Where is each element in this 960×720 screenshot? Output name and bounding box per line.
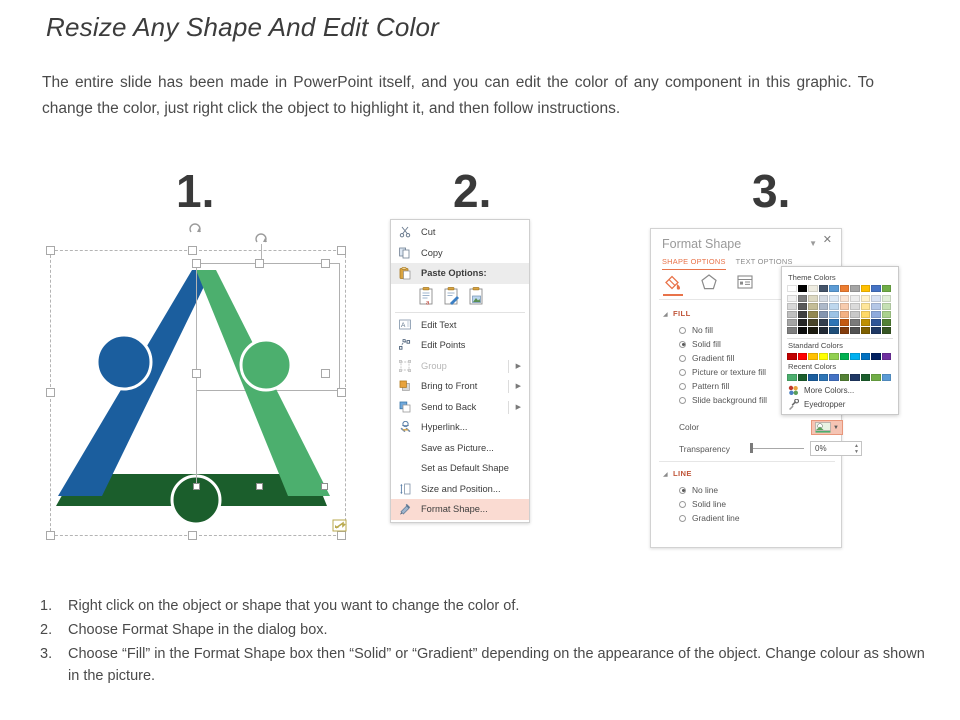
theme-color-column[interactable] — [871, 285, 881, 334]
bring-to-front-icon — [395, 378, 415, 394]
hyperlink-icon — [395, 419, 415, 435]
color-swatch[interactable] — [871, 295, 881, 302]
radio-indicator — [679, 383, 686, 390]
edit-text-icon: A — [395, 317, 415, 333]
color-swatch[interactable] — [840, 353, 850, 360]
menu-item-edit-text[interactable]: A Edit Text — [391, 315, 529, 336]
more-colors-icon — [788, 385, 799, 396]
paste-options-row[interactable]: a — [391, 284, 529, 310]
transparency-slider-thumb[interactable] — [750, 443, 753, 453]
color-swatch[interactable] — [798, 285, 808, 292]
color-swatch[interactable] — [850, 295, 860, 302]
active-option-underline — [663, 294, 683, 296]
color-swatch[interactable] — [808, 374, 818, 381]
radio-indicator — [679, 355, 686, 362]
menu-item-label: Bring to Front — [415, 381, 477, 391]
color-swatch[interactable] — [829, 285, 839, 292]
transparency-slider-track[interactable] — [752, 448, 804, 449]
none-icon — [395, 440, 415, 456]
transparency-value: 0% — [815, 444, 827, 453]
color-swatch[interactable] — [829, 353, 839, 360]
color-swatch[interactable] — [882, 374, 892, 381]
standard-colors-heading: Standard Colors — [788, 341, 893, 350]
color-swatch[interactable] — [840, 327, 850, 334]
send-to-back-icon — [395, 399, 415, 415]
resize-handle-ne[interactable] — [337, 246, 346, 255]
radio-label: Slide background fill — [692, 395, 767, 405]
radio-indicator — [679, 397, 686, 404]
menu-item-label: Save as Picture... — [415, 443, 494, 453]
menu-item-send-to-back[interactable]: Send to Back ▶ — [391, 397, 529, 418]
color-swatch[interactable] — [819, 311, 829, 318]
color-swatch[interactable] — [798, 374, 808, 381]
color-swatch[interactable] — [850, 311, 860, 318]
menu-item-size-and-position[interactable]: Size and Position... — [391, 479, 529, 500]
color-swatch[interactable] — [861, 295, 871, 302]
theme-colors-heading: Theme Colors — [788, 273, 893, 282]
radio-label: No fill — [692, 325, 713, 335]
group-icon — [395, 358, 415, 374]
menu-item-copy[interactable]: Copy — [391, 243, 529, 264]
radio-indicator — [679, 327, 686, 334]
menu-item-label: Hyperlink... — [415, 422, 468, 432]
theme-color-column[interactable] — [808, 285, 818, 334]
color-swatch[interactable] — [798, 311, 808, 318]
triangle-graphic[interactable] — [44, 226, 354, 544]
blue-circle-shape — [97, 335, 151, 389]
transparency-label: Transparency — [679, 444, 730, 454]
color-swatch[interactable] — [787, 374, 797, 381]
color-swatch[interactable] — [840, 303, 850, 310]
color-swatch[interactable] — [798, 327, 808, 334]
menu-item-label: Set as Default Shape — [415, 463, 509, 473]
theme-color-column[interactable] — [840, 285, 850, 334]
rotate-handle-icon-left[interactable] — [188, 222, 204, 238]
instruction-number: 2. — [40, 619, 68, 641]
dialog-option-icons[interactable] — [663, 273, 755, 291]
color-swatch[interactable] — [819, 295, 829, 302]
radio-no-fill[interactable]: No fill — [679, 325, 713, 335]
color-swatch[interactable] — [787, 327, 797, 334]
radio-label: Solid line — [692, 499, 726, 509]
color-swatch[interactable] — [829, 319, 839, 326]
color-swatch[interactable] — [787, 319, 797, 326]
menu-item-label: Edit Text — [415, 320, 457, 330]
color-swatch[interactable] — [850, 374, 860, 381]
menu-item-label: Edit Points — [415, 340, 465, 350]
color-swatch[interactable] — [808, 319, 818, 326]
chevron-right-icon: ▶ — [516, 403, 521, 411]
color-swatch[interactable] — [787, 295, 797, 302]
color-row: Color ▼ — [679, 419, 839, 435]
none-icon — [395, 460, 415, 476]
color-swatch[interactable] — [808, 353, 818, 360]
color-swatch[interactable] — [871, 319, 881, 326]
menu-item-bring-to-front[interactable]: Bring to Front ▶ — [391, 376, 529, 397]
inner-resize-handle-se[interactable] — [321, 483, 328, 490]
recent-colors-row[interactable] — [787, 374, 893, 381]
instruction-number: 1. — [40, 595, 68, 617]
more-colors-button[interactable]: More Colors... — [787, 383, 893, 397]
transparency-row: Transparency 0% ▲▼ — [679, 441, 839, 457]
inner-resize-handle-e[interactable] — [321, 369, 330, 378]
inner-resize-handle-n[interactable] — [255, 259, 264, 268]
menu-item-cut[interactable]: Cut — [391, 222, 529, 243]
copy-icon — [395, 245, 415, 261]
menu-separator — [395, 312, 525, 313]
page-title: Resize Any Shape And Edit Color — [46, 12, 439, 43]
color-swatch[interactable] — [798, 303, 808, 310]
color-swatch[interactable] — [861, 285, 871, 292]
radio-solid-fill[interactable]: Solid fill — [679, 339, 721, 349]
paste-keep-source-formatting-icon[interactable]: a — [418, 287, 436, 306]
theme-color-column[interactable] — [882, 285, 892, 334]
color-swatch[interactable] — [871, 353, 881, 360]
instruction-text: Choose Format Shape in the dialog box. — [68, 619, 940, 641]
radio-gradient-line[interactable]: Gradient line — [679, 513, 740, 523]
color-swatch[interactable] — [808, 311, 818, 318]
svg-text:A: A — [401, 322, 406, 329]
color-swatch[interactable] — [871, 285, 881, 292]
eyedropper-button[interactable]: Eyedropper — [787, 397, 893, 411]
eyedropper-label: Eyedropper — [804, 400, 845, 409]
resize-handle-s[interactable] — [188, 531, 197, 540]
color-swatch[interactable] — [871, 303, 881, 310]
radio-no-line[interactable]: No line — [679, 485, 718, 495]
color-swatch[interactable] — [840, 311, 850, 318]
dialog-title: Format Shape — [662, 237, 741, 251]
theme-color-column[interactable] — [819, 285, 829, 334]
menu-item-label: Copy — [415, 248, 443, 258]
eyedropper-icon — [788, 399, 799, 410]
context-menu[interactable]: Cut Copy Paste Options: a — [390, 219, 530, 523]
theme-colors-grid[interactable] — [787, 285, 893, 334]
radio-label: Gradient line — [692, 513, 740, 523]
shape-selection-panel — [44, 226, 354, 544]
menu-item-set-as-default-shape[interactable]: Set as Default Shape — [391, 458, 529, 479]
theme-color-column[interactable] — [850, 285, 860, 334]
color-swatch[interactable] — [861, 311, 871, 318]
color-swatch[interactable] — [882, 327, 892, 334]
instruction-number: 3. — [40, 643, 68, 687]
line-section-divider — [659, 461, 835, 462]
color-swatch[interactable] — [882, 311, 892, 318]
color-swatch[interactable] — [840, 319, 850, 326]
radio-slide-background-fill[interactable]: Slide background fill — [679, 395, 767, 405]
color-swatch[interactable] — [829, 311, 839, 318]
paste-picture-icon[interactable] — [468, 287, 486, 306]
color-swatch[interactable] — [808, 327, 818, 334]
menu-item-label: Cut — [415, 227, 435, 237]
color-swatch[interactable] — [819, 319, 829, 326]
resize-handle-nw[interactable] — [46, 246, 55, 255]
palette-divider — [787, 338, 893, 339]
line-section-triangle-icon[interactable]: ◢ — [663, 471, 668, 478]
color-swatch[interactable] — [787, 311, 797, 318]
color-swatch[interactable] — [882, 285, 892, 292]
inner-resize-handle-sw[interactable] — [193, 483, 200, 490]
color-swatch[interactable] — [850, 285, 860, 292]
radio-picture-or-texture-fill[interactable]: Picture or texture fill — [679, 367, 766, 377]
edit-points-icon — [395, 337, 415, 353]
fill-color-button[interactable]: ▼ — [811, 420, 843, 435]
color-swatch[interactable] — [882, 295, 892, 302]
color-swatch[interactable] — [798, 353, 808, 360]
radio-indicator — [679, 369, 686, 376]
menu-item-label: Format Shape... — [415, 504, 488, 514]
color-swatch[interactable] — [861, 327, 871, 334]
size-position-icon — [395, 481, 415, 497]
chevron-down-icon[interactable]: ▼ — [833, 425, 839, 431]
paste-use-destination-theme-icon[interactable] — [443, 287, 461, 306]
color-swatch[interactable] — [787, 303, 797, 310]
color-swatch[interactable] — [861, 303, 871, 310]
color-swatch[interactable] — [808, 285, 818, 292]
inner-resize-handle-w[interactable] — [192, 369, 201, 378]
rotate-handle-icon-right[interactable] — [254, 232, 270, 248]
chevron-right-icon: ▶ — [516, 362, 521, 370]
color-label: Color — [679, 422, 699, 432]
standard-colors-row[interactable] — [787, 353, 893, 360]
resize-cursor-icon — [332, 518, 350, 534]
color-swatch[interactable] — [798, 319, 808, 326]
menu-item-group: Group ▶ — [391, 356, 529, 377]
resize-handle-sw[interactable] — [46, 531, 55, 540]
step-number-1: 1. — [176, 168, 214, 214]
recent-colors-heading: Recent Colors — [788, 362, 893, 371]
color-swatch[interactable] — [882, 353, 892, 360]
menu-item-hyperlink[interactable]: Hyperlink... — [391, 417, 529, 438]
radio-indicator — [679, 501, 686, 508]
color-swatch[interactable] — [819, 303, 829, 310]
tab-shape-options[interactable]: SHAPE OPTIONS — [662, 257, 726, 270]
menu-item-label: Group — [415, 361, 447, 371]
chevron-down-icon[interactable]: ▼ — [809, 239, 817, 248]
inner-resize-handle-s[interactable] — [256, 483, 263, 490]
radio-solid-line[interactable]: Solid line — [679, 499, 726, 509]
color-swatch[interactable] — [871, 327, 881, 334]
menu-item-label: Paste Options: — [415, 268, 487, 278]
color-swatch[interactable] — [850, 353, 860, 360]
color-swatch[interactable] — [829, 327, 839, 334]
color-swatch[interactable] — [808, 295, 818, 302]
green-circle-shape — [241, 340, 291, 390]
color-swatch[interactable] — [882, 319, 892, 326]
step-number-3: 3. — [752, 168, 790, 214]
theme-color-column[interactable] — [861, 285, 871, 334]
line-section-label: LINE — [673, 469, 692, 478]
radio-label: No line — [692, 485, 718, 495]
color-swatch[interactable] — [850, 303, 860, 310]
radio-indicator — [679, 515, 686, 522]
color-swatch[interactable] — [871, 374, 881, 381]
theme-color-column[interactable] — [798, 285, 808, 334]
menu-submenu-divider — [508, 380, 509, 393]
transparency-input[interactable]: 0% ▲▼ — [810, 441, 862, 456]
instructions-list: 1. Right click on the object or shape th… — [40, 595, 940, 689]
color-swatch[interactable] — [829, 295, 839, 302]
menu-item-paste-options[interactable]: Paste Options: — [391, 263, 529, 284]
dialog-tabs[interactable]: SHAPE OPTIONS TEXT OPTIONS — [662, 257, 793, 270]
instruction-text: Right click on the object or shape that … — [68, 595, 940, 617]
color-swatch[interactable] — [840, 374, 850, 381]
color-swatch[interactable] — [819, 374, 829, 381]
radio-indicator — [679, 487, 686, 494]
close-icon[interactable]: ✕ — [823, 235, 832, 246]
inner-resize-handle-nw[interactable] — [192, 259, 201, 268]
color-swatch[interactable] — [871, 311, 881, 318]
instruction-row: 3. Choose “Fill” in the Format Shape box… — [40, 643, 940, 687]
resize-handle-e[interactable] — [337, 388, 346, 397]
format-shape-icon — [395, 501, 415, 517]
color-swatch[interactable] — [861, 319, 871, 326]
menu-item-edit-points[interactable]: Edit Points — [391, 335, 529, 356]
color-swatch[interactable] — [861, 374, 871, 381]
size-properties-icon[interactable] — [735, 273, 755, 291]
radio-indicator — [679, 341, 686, 348]
step-number-2: 2. — [453, 168, 491, 214]
color-swatch-icon — [815, 422, 831, 433]
color-picker-dropdown[interactable]: Theme Colors Standard Colors Recent Colo… — [781, 266, 899, 415]
color-swatch[interactable] — [850, 319, 860, 326]
radio-gradient-fill[interactable]: Gradient fill — [679, 353, 734, 363]
clipboard-icon — [395, 265, 415, 281]
radio-label: Picture or texture fill — [692, 367, 766, 377]
menu-item-save-as-picture[interactable]: Save as Picture... — [391, 438, 529, 459]
color-swatch[interactable] — [840, 295, 850, 302]
chevron-right-icon: ▶ — [516, 382, 521, 390]
color-swatch[interactable] — [787, 353, 797, 360]
menu-item-label: Size and Position... — [415, 484, 501, 494]
radio-pattern-fill[interactable]: Pattern fill — [679, 381, 729, 391]
pentagon-effects-icon[interactable] — [699, 273, 719, 291]
resize-handle-w[interactable] — [46, 388, 55, 397]
radio-label: Solid fill — [692, 339, 721, 349]
menu-submenu-divider — [508, 401, 509, 414]
menu-item-label: Send to Back — [415, 402, 476, 412]
menu-submenu-divider — [508, 360, 509, 373]
radio-label: Gradient fill — [692, 353, 734, 363]
theme-color-column[interactable] — [829, 285, 839, 334]
instruction-row: 1. Right click on the object or shape th… — [40, 595, 940, 617]
fill-section-label: FILL — [673, 309, 691, 318]
color-swatch[interactable] — [798, 295, 808, 302]
color-swatch[interactable] — [882, 303, 892, 310]
radio-label: Pattern fill — [692, 381, 729, 391]
more-colors-label: More Colors... — [804, 386, 854, 395]
fill-bucket-icon[interactable] — [663, 273, 683, 291]
color-swatch[interactable] — [829, 374, 839, 381]
inner-resize-handle-ne[interactable] — [321, 259, 330, 268]
color-swatch[interactable] — [861, 353, 871, 360]
fill-section-triangle-icon[interactable]: ◢ — [663, 311, 668, 318]
instruction-text: Choose “Fill” in the Format Shape box th… — [68, 643, 940, 687]
color-swatch[interactable] — [787, 285, 797, 292]
scissors-icon — [395, 224, 415, 240]
resize-handle-n[interactable] — [188, 246, 197, 255]
color-swatch[interactable] — [819, 353, 829, 360]
color-swatch[interactable] — [819, 285, 829, 292]
color-swatch[interactable] — [829, 303, 839, 310]
color-swatch[interactable] — [850, 327, 860, 334]
color-swatch[interactable] — [819, 327, 829, 334]
menu-item-format-shape[interactable]: Format Shape... — [391, 499, 529, 520]
intro-paragraph: The entire slide has been made in PowerP… — [42, 70, 874, 122]
color-swatch[interactable] — [808, 303, 818, 310]
instruction-row: 2. Choose Format Shape in the dialog box… — [40, 619, 940, 641]
spinner-arrows-icon[interactable]: ▲▼ — [854, 443, 859, 455]
color-swatch[interactable] — [840, 285, 850, 292]
theme-color-column[interactable] — [787, 285, 797, 334]
